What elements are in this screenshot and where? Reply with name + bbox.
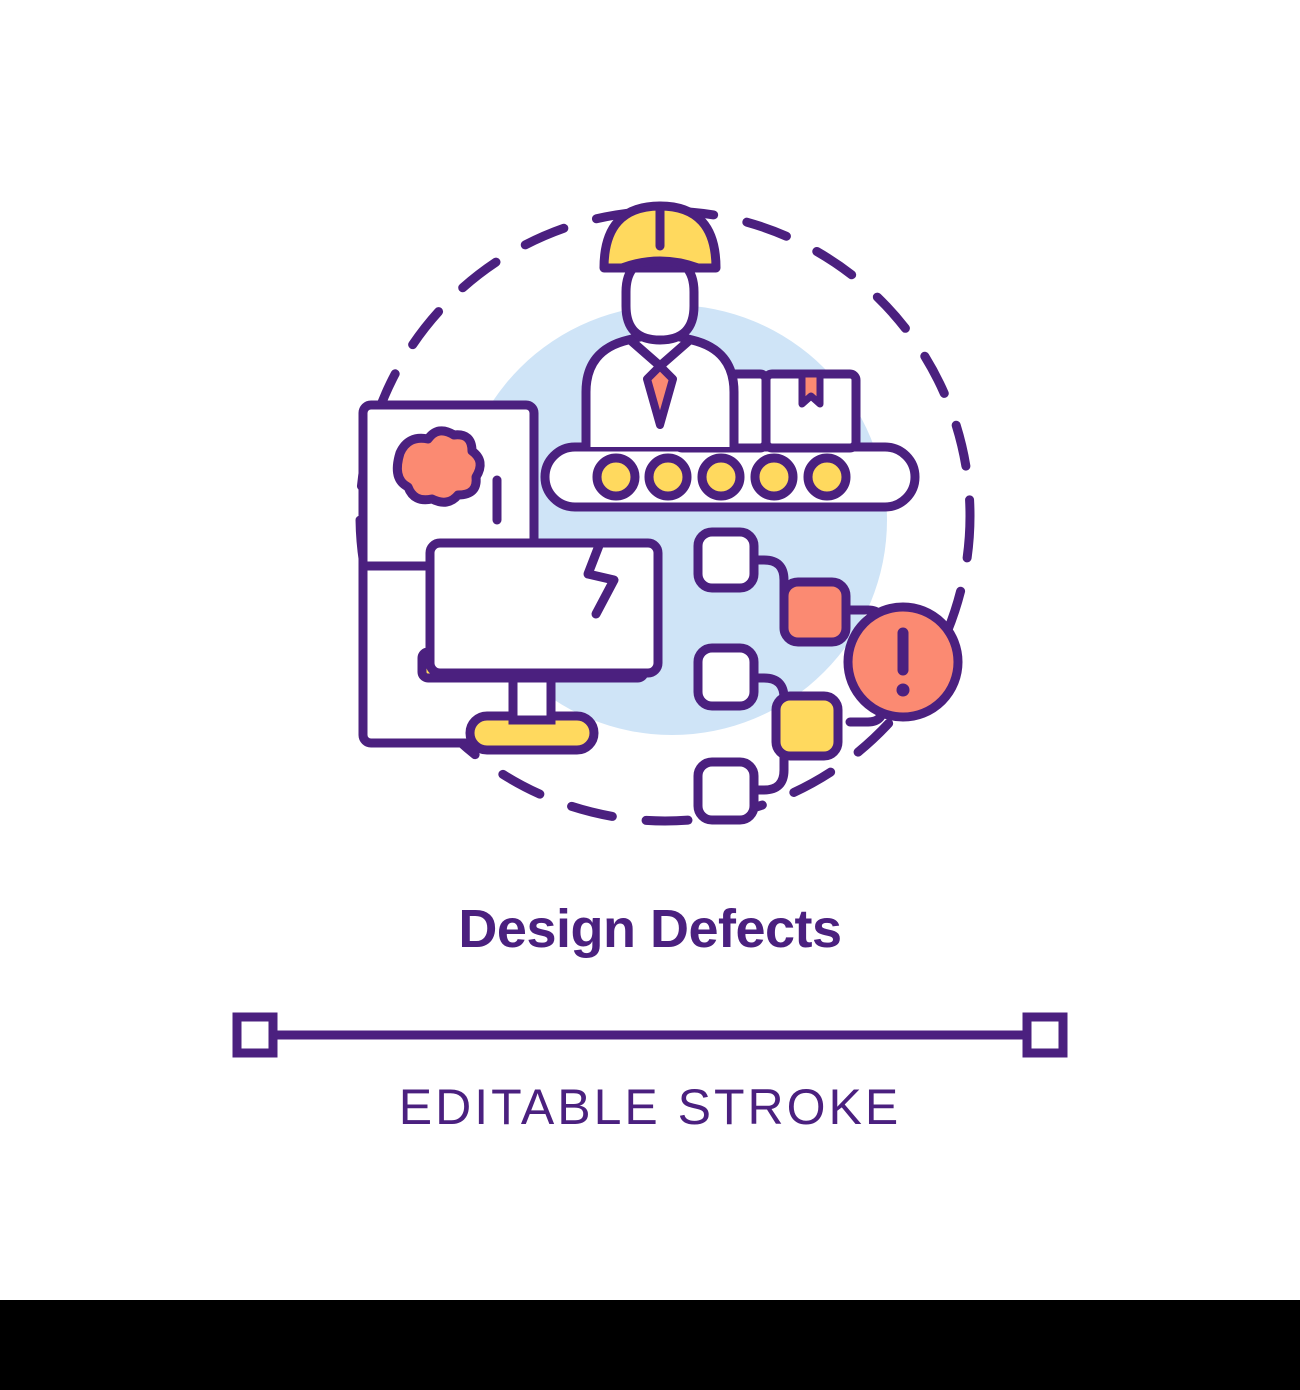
concept-icon-page: Design Defects EDITABLE STROKE alamy 2RW… (0, 0, 1300, 1390)
editable-stroke-label: EDITABLE STROKE (0, 1078, 1300, 1136)
warning-exclamation-badge (848, 607, 958, 717)
flowchart-node-white-1 (698, 532, 754, 588)
flowchart-node-yellow (776, 696, 838, 756)
box-right (766, 374, 856, 448)
flowchart-node-white-2 (698, 648, 754, 706)
editable-stroke-marker (237, 1017, 1063, 1053)
watermark-footer-bar: alamy 2RWEMN7 (0, 1300, 1300, 1390)
conveyor-belt (545, 447, 915, 507)
page-title: Design Defects (0, 898, 1300, 960)
flowchart-node-white-3 (698, 762, 754, 820)
flowchart-node-coral (784, 582, 846, 642)
defect-blob (397, 431, 480, 502)
